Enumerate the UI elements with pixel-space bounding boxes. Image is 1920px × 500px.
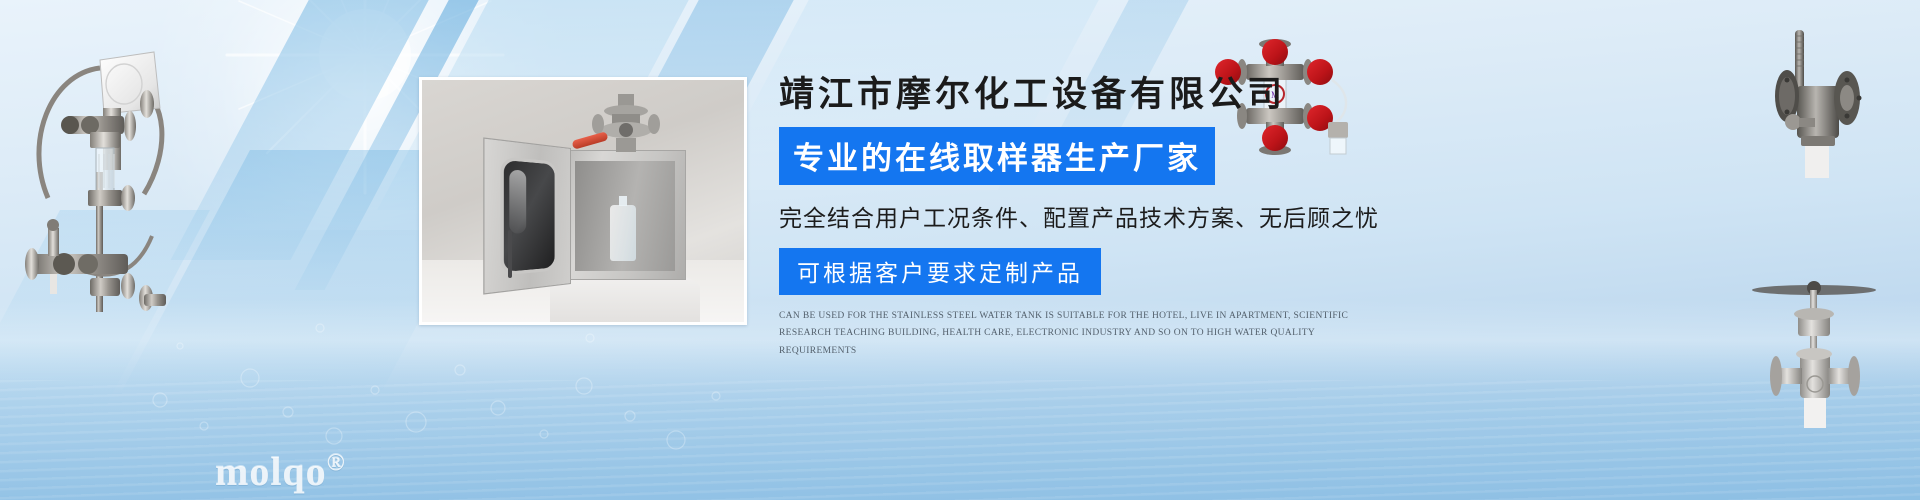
- subheadline: 完全结合用户工况条件、配置产品技术方案、无后顾之忧: [779, 199, 1399, 233]
- banner-text-block: 靖江市摩尔化工设备有限公司 专业的在线取样器生产厂家 完全结合用户工况条件、配置…: [779, 76, 1399, 360]
- custom-product-badge: 可根据客户要求定制产品: [779, 248, 1101, 295]
- company-name: 靖江市摩尔化工设备有限公司: [779, 76, 1399, 115]
- watermark-text: molqo: [215, 449, 327, 494]
- watermark-logo: molqo®: [215, 448, 346, 495]
- online-sampler-assembly-illustration: [4, 22, 194, 322]
- sampler-cabinet-photo: [419, 77, 747, 325]
- lever-flange-sampler-illustration: [1771, 24, 1891, 209]
- registered-mark: ®: [327, 451, 346, 477]
- promo-banner: M: [0, 0, 1920, 500]
- photo-valve-assembly: [592, 94, 662, 156]
- headline-badge: 专业的在线取样器生产厂家: [779, 127, 1215, 185]
- english-description: CAN BE USED FOR THE STAINLESS STEEL WATE…: [779, 308, 1379, 361]
- handwheel-gate-valve-illustration: [1742, 258, 1887, 428]
